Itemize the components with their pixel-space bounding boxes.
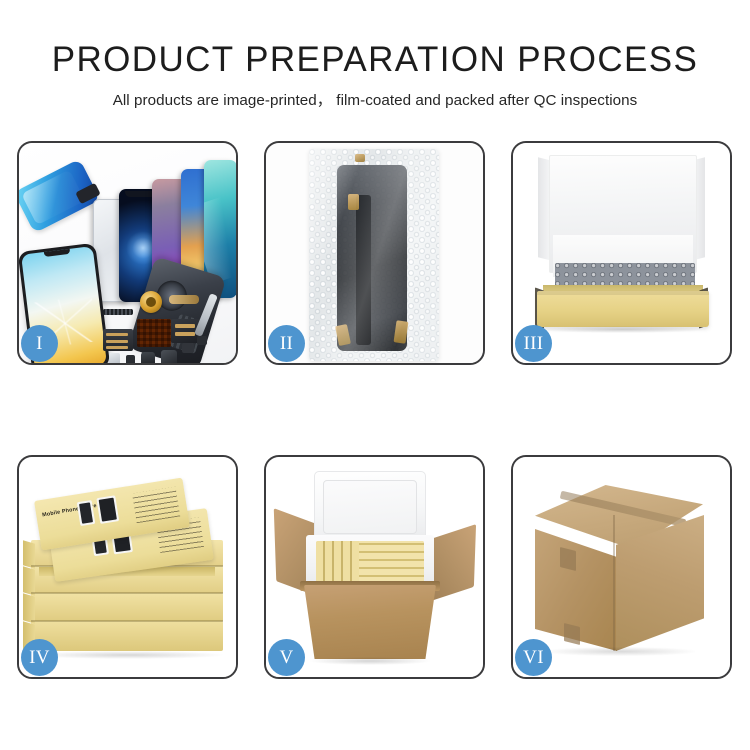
carton-front-icon: [304, 585, 436, 659]
retail-box-stack: Mobile Phone Spare Parts Mobile Phone Sp…: [23, 471, 233, 667]
styrofoam-lid-icon: [314, 471, 426, 543]
gold-cable-icon: [169, 295, 199, 304]
kraft-box-front-icon: [537, 291, 709, 327]
carton-tape-patch-2-icon: [564, 623, 580, 645]
header: PRODUCT PREPARATION PROCESS All products…: [0, 42, 750, 110]
bubble-wrap-bag-icon: [309, 149, 439, 361]
stacked-box-1: [31, 621, 223, 651]
page-title: PRODUCT PREPARATION PROCESS: [0, 42, 750, 79]
stacked-box-2: [31, 593, 223, 622]
small-part-2-icon: [126, 355, 135, 363]
small-part-1-icon: [109, 353, 120, 363]
plastic-gloss-overlay: [309, 149, 439, 361]
product-preparation-infographic: PRODUCT PREPARATION PROCESS All products…: [0, 0, 750, 750]
box-seam-1: [31, 620, 223, 622]
step-card-6: VI: [511, 455, 732, 679]
step-badge-1: I: [21, 325, 58, 362]
step-badge-3: III: [515, 325, 552, 362]
step-card-2: II: [264, 141, 485, 365]
step-card-4: Mobile Phone Spare Parts Mobile Phone Sp…: [17, 455, 238, 679]
small-part-4-icon: [161, 350, 177, 363]
small-part-5-icon: [182, 343, 194, 353]
step-card-1: I: [17, 141, 238, 365]
small-part-6-icon: [197, 336, 207, 345]
carton-vertical-edge: [613, 515, 615, 651]
drop-shadow: [33, 651, 223, 659]
drop-shadow: [545, 647, 695, 656]
contact-grid-icon: [137, 319, 171, 347]
page-subtitle: All products are image-printed， film-coa…: [0, 88, 750, 110]
drop-shadow: [541, 326, 705, 333]
speaker-coil-icon: [140, 291, 162, 313]
box-seam-2: [31, 592, 223, 594]
box-art-screen-2-icon: [96, 495, 119, 524]
carton-tape-patch-1-icon: [560, 547, 576, 571]
step-badge-5: V: [268, 639, 305, 676]
drop-shadow: [310, 657, 430, 665]
box-spec-lines: [132, 487, 180, 524]
process-steps-grid: I II: [17, 141, 733, 679]
step-badge-4: IV: [21, 639, 58, 676]
step-badge-2: II: [268, 325, 305, 362]
step-badge-6: VI: [515, 639, 552, 676]
step-card-3: III: [511, 141, 732, 365]
small-part-3-icon: [141, 352, 155, 363]
flex-connector-1-icon: [103, 329, 133, 351]
step-card-5: V: [264, 455, 485, 679]
packed-retail-boxes-icon: [316, 541, 424, 583]
flex-cable-bar-icon: [103, 309, 133, 315]
